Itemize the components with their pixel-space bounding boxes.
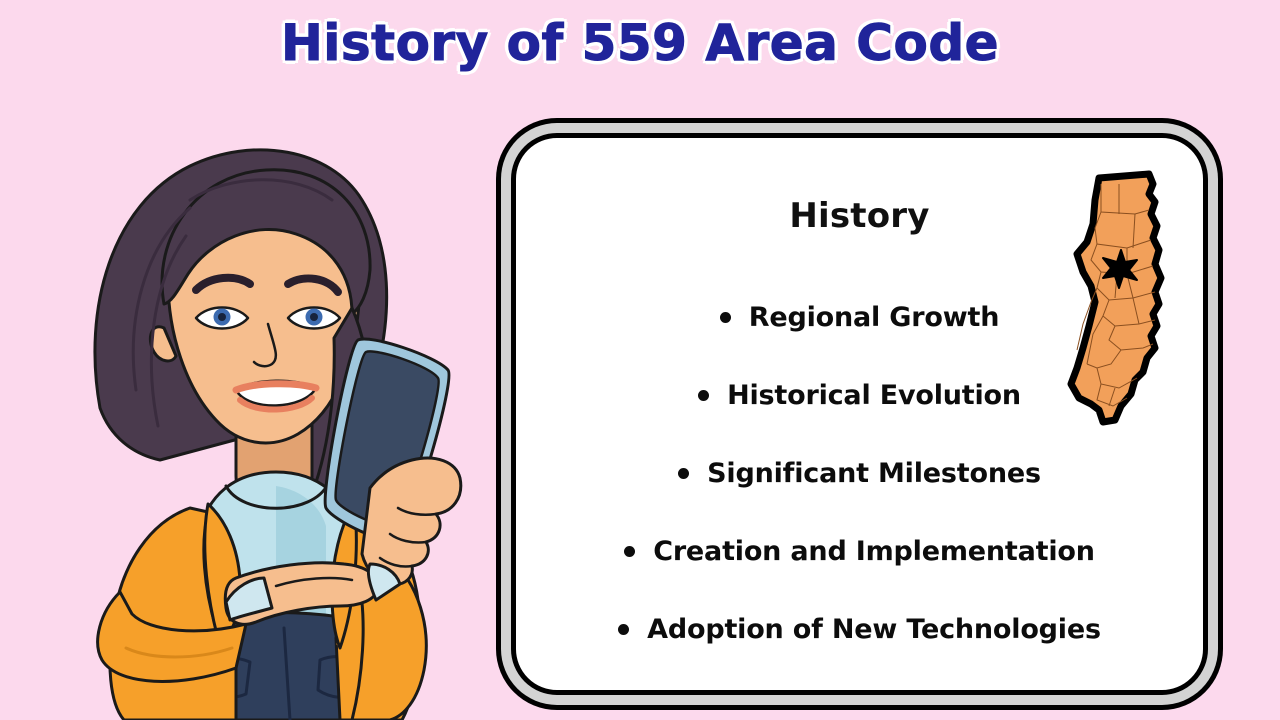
page-title: History of 559 Area Code <box>281 14 999 72</box>
history-bullet-list: Regional Growth Historical Evolution Sig… <box>526 278 1193 668</box>
bullet-dot-icon <box>678 468 689 479</box>
card-inner: History <box>516 138 1203 690</box>
list-item: Significant Milestones <box>526 434 1193 512</box>
bullet-dot-icon <box>698 390 709 401</box>
title-bar: History of 559 Area Code <box>0 14 1280 72</box>
bullet-dot-icon <box>618 624 629 635</box>
list-item-label: Adoption of New Technologies <box>647 614 1101 645</box>
list-item: Historical Evolution <box>526 356 1193 434</box>
infographic-page: History of 559 Area Code <box>0 0 1280 720</box>
history-card: History <box>511 133 1208 695</box>
list-item: Regional Growth <box>526 278 1193 356</box>
pupil-left <box>218 313 226 321</box>
pupil-right <box>310 313 318 321</box>
list-item: Creation and Implementation <box>526 512 1193 590</box>
list-item: Adoption of New Technologies <box>526 590 1193 668</box>
list-item-label: Historical Evolution <box>727 380 1021 411</box>
bullet-dot-icon <box>720 312 731 323</box>
list-item-label: Significant Milestones <box>707 458 1041 489</box>
list-item-label: Regional Growth <box>749 302 999 333</box>
bullet-dot-icon <box>624 546 635 557</box>
woman-illustration-svg <box>40 108 510 720</box>
woman-illustration <box>40 108 510 720</box>
list-item-label: Creation and Implementation <box>653 536 1095 567</box>
